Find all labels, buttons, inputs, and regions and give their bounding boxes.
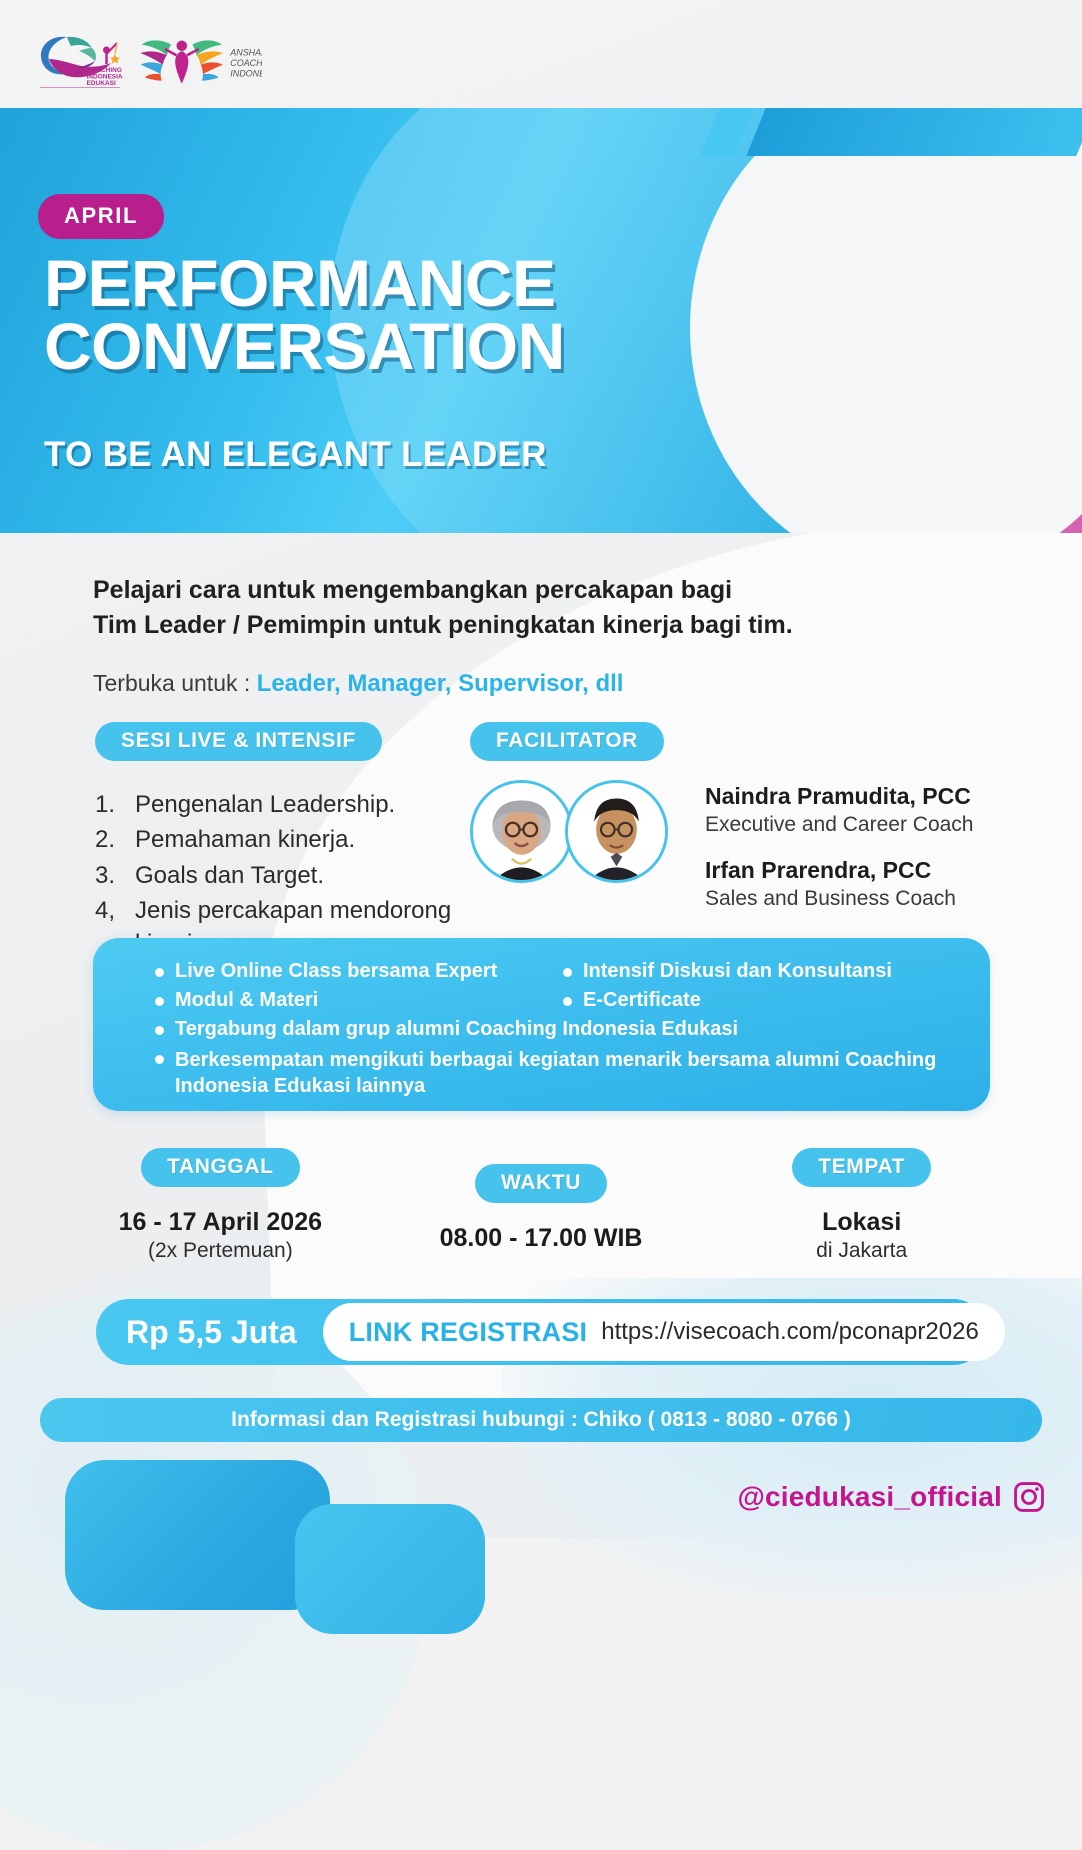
svg-text:INDONESIA: INDONESIA [87,74,123,81]
date-note: (2x Pertemuan) [60,1239,381,1263]
avatar [470,780,573,883]
registration-link-label: LINK REGISTRASI [349,1317,588,1348]
sessions-badge: SESI LIVE & INTENSIF [95,722,382,761]
event-details: TANGGAL 16 - 17 April 2026 (2x Pertemuan… [60,1148,1022,1263]
social-handle[interactable]: @ciedukasi_official [737,1480,1046,1514]
sessions-block: SESI LIVE & INTENSIF 1. Pengenalan Leade… [95,722,455,963]
audience-label: Terbuka untuk : [93,670,250,696]
detail-place: TEMPAT Lokasi di Jakarta [701,1148,1022,1263]
instagram-icon[interactable] [1012,1480,1046,1514]
background-blob-two [295,1504,485,1634]
list-item: 2. Pemahaman kinerja. [95,824,455,856]
male-coach-avatar-icon [568,783,665,880]
facilitator-role: Sales and Business Coach [705,885,1015,912]
bullet-icon [563,968,572,977]
session-text: Pengenalan Leadership. [135,789,455,821]
session-number: 3. [95,860,135,892]
list-item: Berkesempatan mengikuti berbagai kegiata… [155,1047,975,1100]
instagram-handle-text: @ciedukasi_official [737,1481,1002,1513]
time-badge: WAKTU [475,1164,607,1203]
benefit-text: Live Online Class bersama Expert [175,960,497,983]
list-item: E-Certificate [563,989,701,1012]
session-number: 2. [95,824,135,856]
audience-line: Terbuka untuk : Leader, Manager, Supervi… [93,670,973,698]
price-registration-bar: Rp 5,5 Juta LINK REGISTRASI https://vise… [96,1299,986,1365]
svg-text:EDUKASI: EDUKASI [87,80,116,87]
intro-line-2: Tim Leader / Pemimpin untuk peningkatan … [93,608,973,643]
detail-date: TANGGAL 16 - 17 April 2026 (2x Pertemuan… [60,1148,381,1263]
title-line-2: CONVERSATION [44,315,724,378]
audience-value: Leader, Manager, Supervisor, dll [257,670,624,697]
place-note: di Jakarta [701,1239,1022,1263]
detail-time: WAKTU 08.00 - 17.00 WIB [381,1148,702,1263]
date-badge: TANGGAL [141,1148,299,1187]
list-item: Tergabung dalam grup alumni Coaching Ind… [155,1018,738,1041]
page-subtitle: TO BE AN ELEGANT LEADER [44,435,547,475]
benefits-panel: Live Online Class bersama Expert Intensi… [93,938,990,1111]
background-blob-one [65,1460,330,1610]
svg-text:INDONESIA: INDONESIA [230,68,262,78]
benefit-text: Intensif Diskusi dan Konsultansi [583,960,892,983]
facilitator-role: Executive and Career Coach [705,811,1015,838]
list-item: Intensif Diskusi dan Konsultansi [563,960,892,983]
hero-white-wave [690,108,1082,533]
registration-link-box[interactable]: LINK REGISTRASI https://visecoach.com/pc… [323,1303,1005,1361]
intro-line-1: Pelajari cara untuk mengembangkan percak… [93,573,973,608]
list-item: 1. Pengenalan Leadership. [95,789,455,821]
facilitator-name: Irfan Prarendra, PCC [705,856,1015,885]
benefit-text: Modul & Materi [175,989,318,1012]
facilitator-names: Naindra Pramudita, PCC Executive and Car… [705,782,1015,930]
benefit-text: Tergabung dalam grup alumni Coaching Ind… [175,1018,738,1041]
logo-bar: COACHING INDONESIA EDUKASI ANSHANA COACH… [0,0,1082,120]
session-text: Goals dan Target. [135,860,455,892]
anshana-coaching-indonesia-logo: ANSHANA COACHING INDONESIA [130,30,262,88]
list-item: 3. Goals dan Target. [95,860,455,892]
benefit-text: Berkesempatan mengikuti berbagai kegiata… [175,1047,975,1100]
contact-bar: Informasi dan Registrasi hubungi : Chiko… [40,1398,1042,1442]
facilitator-block: FACILITATOR [470,722,1010,761]
contact-text: Informasi dan Registrasi hubungi : Chiko… [231,1408,851,1432]
benefit-text: E-Certificate [583,989,701,1012]
svg-text:COACHING: COACHING [87,67,122,74]
female-coach-avatar-icon [473,783,570,880]
bullet-icon [155,1026,164,1035]
registration-url[interactable]: https://visecoach.com/pconapr2026 [601,1318,979,1346]
session-number: 1. [95,789,135,821]
bullet-icon [155,1055,164,1064]
bullet-icon [155,968,164,977]
price-value: Rp 5,5 Juta [96,1314,323,1351]
bullet-icon [563,997,572,1006]
page-title: PERFORMANCE CONVERSATION [44,252,724,379]
svg-text:ANSHANA: ANSHANA [229,47,262,57]
facilitator-badge: FACILITATOR [470,722,664,761]
list-item: Live Online Class bersama Expert [155,960,497,983]
list-item: Modul & Materi [155,989,318,1012]
time-value: 08.00 - 17.00 WIB [381,1223,702,1253]
avatar [565,780,668,883]
facilitator-name: Naindra Pramudita, PCC [705,782,1015,811]
date-value: 16 - 17 April 2026 [60,1207,381,1237]
bullet-icon [155,997,164,1006]
facilitator-avatars [470,780,668,883]
place-value: Lokasi [701,1207,1022,1237]
hero-stripe-large [746,108,1082,156]
place-badge: TEMPAT [792,1148,931,1187]
svg-text:COACHING: COACHING [230,58,262,68]
session-text: Pemahaman kinerja. [135,824,455,856]
month-badge: APRIL [38,194,164,239]
sessions-list: 1. Pengenalan Leadership. 2. Pemahaman k… [95,789,455,960]
coaching-indonesia-edukasi-logo: COACHING INDONESIA EDUKASI [36,28,124,90]
intro-block: Pelajari cara untuk mengembangkan percak… [93,573,973,698]
